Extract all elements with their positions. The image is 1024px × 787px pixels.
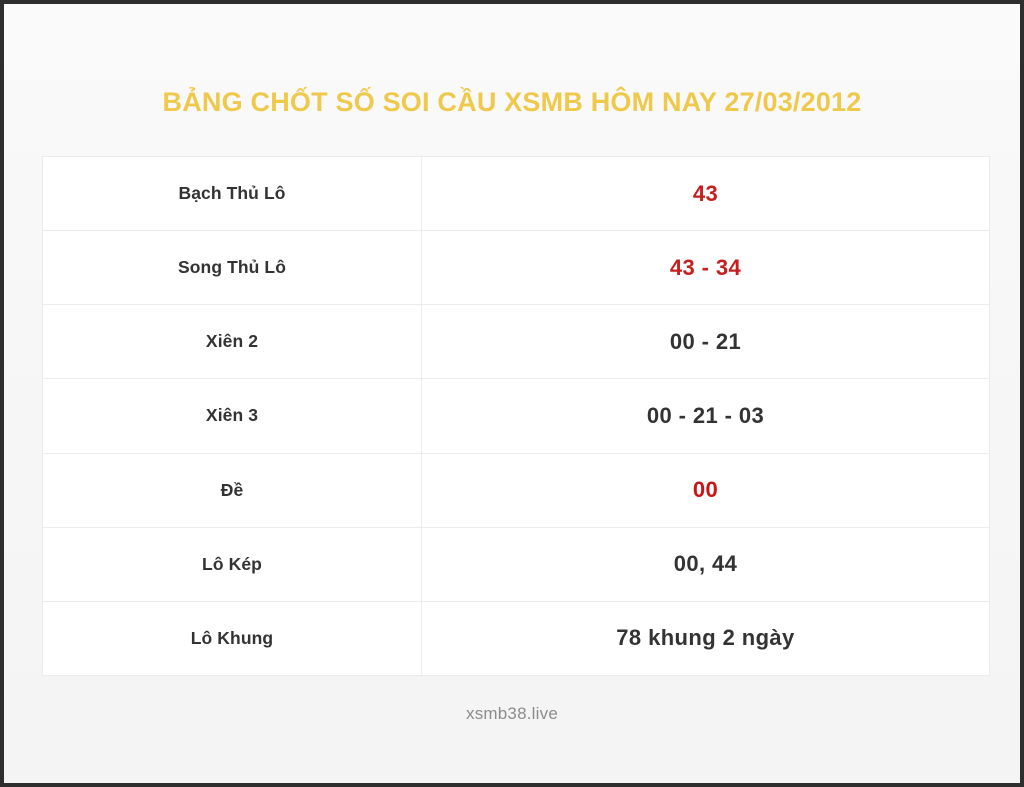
table-row: Song Thủ Lô 43 - 34 xyxy=(43,231,989,305)
row-label-lo-kep: Lô Kép xyxy=(43,528,422,601)
table-row: Xiên 3 00 - 21 - 03 xyxy=(43,379,989,453)
row-label-song-thu-lo: Song Thủ Lô xyxy=(43,231,422,304)
table-row: Đề 00 xyxy=(43,454,989,528)
row-value-xien-2: 00 - 21 xyxy=(422,305,989,378)
row-value-lo-khung: 78 khung 2 ngày xyxy=(422,602,989,675)
row-value-song-thu-lo: 43 - 34 xyxy=(422,231,989,304)
page-title: BẢNG CHỐT SỐ SOI CẦU XSMB HÔM NAY 27/03/… xyxy=(4,82,1020,122)
row-value-lo-kep: 00, 44 xyxy=(422,528,989,601)
site-watermark: xsmb38.live xyxy=(4,704,1020,724)
row-value-xien-3: 00 - 21 - 03 xyxy=(422,379,989,452)
row-label-bach-thu-lo: Bạch Thủ Lô xyxy=(43,157,422,230)
screenshot-frame: BẢNG CHỐT SỐ SOI CẦU XSMB HÔM NAY 27/03/… xyxy=(0,0,1024,787)
table-row: Bạch Thủ Lô 43 xyxy=(43,157,989,231)
row-label-xien-3: Xiên 3 xyxy=(43,379,422,452)
row-label-de: Đề xyxy=(43,454,422,527)
row-label-lo-khung: Lô Khung xyxy=(43,602,422,675)
table-row: Xiên 2 00 - 21 xyxy=(43,305,989,379)
row-value-bach-thu-lo: 43 xyxy=(422,157,989,230)
row-label-xien-2: Xiên 2 xyxy=(43,305,422,378)
prediction-table: Bạch Thủ Lô 43 Song Thủ Lô 43 - 34 Xiên … xyxy=(42,156,990,676)
table-row: Lô Kép 00, 44 xyxy=(43,528,989,602)
table-row: Lô Khung 78 khung 2 ngày xyxy=(43,602,989,675)
page-background: BẢNG CHỐT SỐ SOI CẦU XSMB HÔM NAY 27/03/… xyxy=(4,4,1020,783)
row-value-de: 00 xyxy=(422,454,989,527)
